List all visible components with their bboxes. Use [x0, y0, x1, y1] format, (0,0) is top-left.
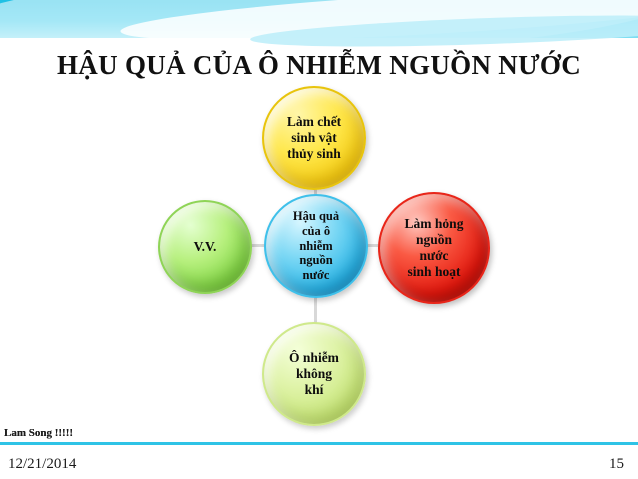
footer-bar: 12/21/2014 15: [0, 442, 638, 479]
node-lam-chet-sinh-vat-thuy-sinh[interactable]: Làm chếtsinh vậtthủy sinh: [262, 86, 366, 190]
node-label: Làm chếtsinh vậtthủy sinh: [281, 114, 347, 162]
footer-date: 12/21/2014: [8, 456, 76, 473]
node-lam-hong-nguon-nuoc-sinh-hoat[interactable]: Làm hỏngnguồnnướcsinh hoạt: [378, 192, 490, 304]
footnote-line-2: Lam Song !!!!!: [4, 427, 73, 440]
node-center-hau-qua[interactable]: Hậu quảcủa ônhiễmnguồnnước: [264, 194, 368, 298]
node-label: Làm hỏngnguồnnướcsinh hoạt: [399, 216, 470, 280]
footer-page-number: 15: [609, 456, 624, 473]
slide-title: HẬU QUẢ CỦA Ô NHIỄM NGUỒN NƯỚC: [0, 50, 638, 81]
decorative-top-banner: [0, 0, 638, 38]
node-o-nhiem-khong-khi[interactable]: Ô nhiễmkhôngkhí: [262, 322, 366, 426]
node-label: Ô nhiễmkhôngkhí: [283, 350, 345, 398]
node-label: Hậu quảcủa ônhiễmnguồnnước: [287, 209, 345, 283]
node-vv[interactable]: V.V.: [158, 200, 252, 294]
radial-diagram: Làm chếtsinh vậtthủy sinh V.V. Hậu quảcủ…: [150, 86, 500, 426]
node-label: V.V.: [188, 239, 223, 255]
slide: HẬU QUẢ CỦA Ô NHIỄM NGUỒN NƯỚC Làm chếts…: [0, 0, 638, 479]
